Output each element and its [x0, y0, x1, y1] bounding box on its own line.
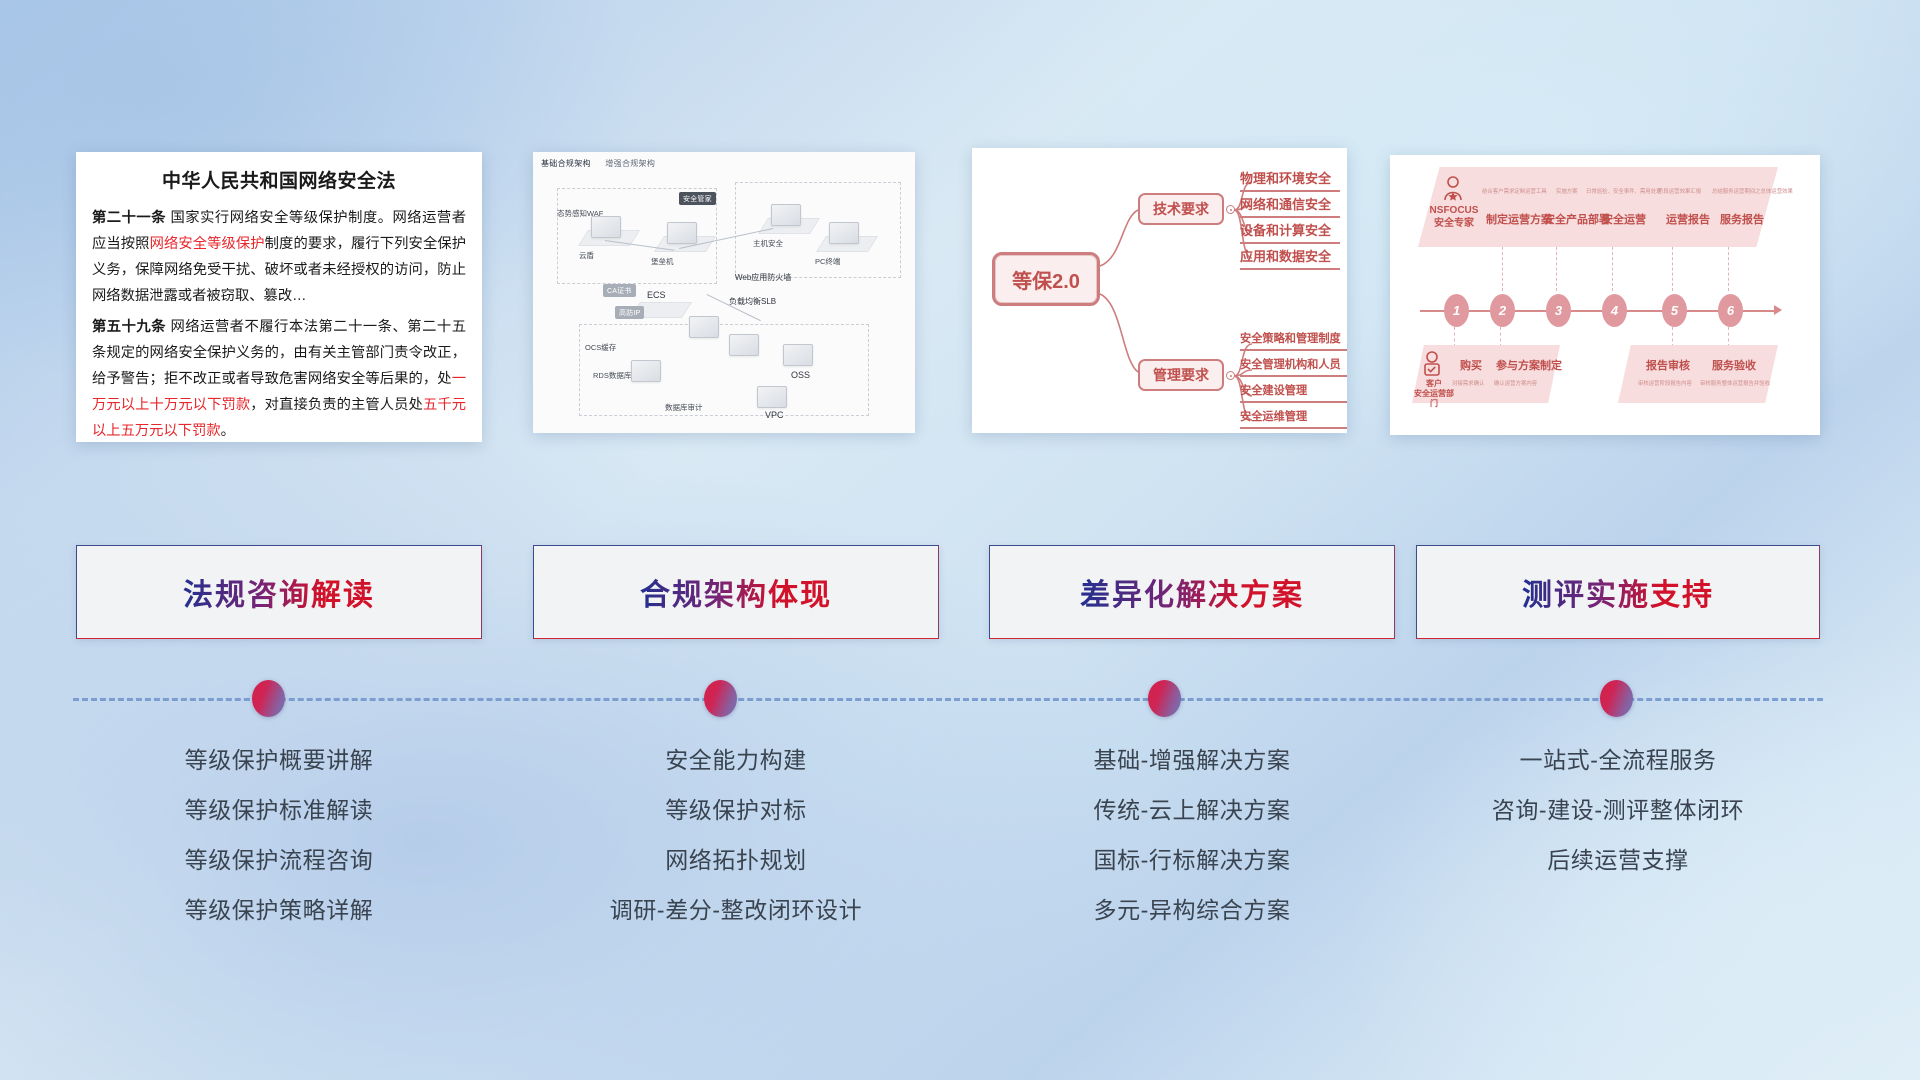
flow-drop-2 [1556, 247, 1557, 291]
title-label-2: 差异化解决方案 [1080, 570, 1304, 614]
flow-axis-arrow-icon [1774, 305, 1782, 315]
architecture-canvas: 安全管家 云盾 态势感知WAF 堡垒机 主机安全 PC终端 Web应用防火墙 负… [539, 174, 909, 427]
title-label-1: 合规架构体现 [640, 570, 832, 614]
flow-step-node-3[interactable]: 3 [1546, 294, 1571, 327]
law-card-title: 中华人民共和国网络安全法 [92, 166, 466, 193]
timeline-dashed-line [73, 698, 1823, 701]
list-item: 咨询-建设-测评整体闭环 [1416, 785, 1820, 835]
flow-canvas: NSFOCUS 安全专家 结合客户需求定制运营工具 制定运营方案 实施方案 安全… [1390, 155, 1820, 435]
card-cybersecurity-law[interactable]: 中华人民共和国网络安全法 第二十一条 国家实行网络安全等级保护制度。网络运营者应… [76, 152, 482, 442]
flow-drop-4 [1672, 247, 1673, 291]
law-article-59-text-b: ，对直接负责的主管人员处 [250, 397, 423, 413]
architecture-tab-enhanced[interactable]: 增强合规架构 [605, 159, 655, 168]
arch-label-ecs: ECS [647, 290, 666, 300]
flow-bottom-main-4[interactable]: 服务验收 [1712, 357, 1756, 373]
flow-step-node-2[interactable]: 2 [1490, 294, 1515, 327]
flow-drop-3 [1612, 247, 1613, 291]
mindmap-branch-management[interactable]: 管理要求 [1138, 359, 1224, 391]
flow-step-node-6[interactable]: 6 [1718, 294, 1743, 327]
flow-step-node-5[interactable]: 5 [1662, 294, 1687, 327]
title-label-0: 法规咨询解读 [183, 570, 375, 614]
mindmap-leaf-ops[interactable]: 安全运维管理 [1240, 408, 1347, 429]
flow-top-main-1[interactable]: 制定运营方案 [1486, 211, 1552, 227]
flow-drop-5 [1728, 247, 1729, 291]
flow-top-sub-2: 实施方案 [1556, 187, 1578, 195]
list-item: 等级保护概要讲解 [76, 735, 482, 785]
expert-persona-label: NSFOCUS 安全专家 [1426, 205, 1482, 230]
list-column-assessment: 一站式-全流程服务 咨询-建设-测评整体闭环 后续运营支撑 [1416, 735, 1820, 885]
customer-person-icon [1420, 351, 1444, 377]
flow-bottom-band-right [1618, 345, 1778, 403]
mindmap-leaf-device[interactable]: 设备和计算安全 [1240, 220, 1340, 244]
customer-persona-label: 客户 安全运营部门 [1412, 379, 1456, 409]
list-item: 后续运营支撑 [1416, 835, 1820, 885]
arch-tag-anti-ddos: 高防IP [615, 306, 644, 319]
mindmap-dot-management [1226, 371, 1235, 380]
flow-drop-b4 [1728, 327, 1729, 347]
flow-top-main-5[interactable]: 服务报告 [1720, 211, 1764, 227]
flow-drop-b2 [1500, 327, 1501, 347]
mindmap-root-node[interactable]: 等保2.0 [992, 252, 1100, 306]
flow-step-node-4[interactable]: 4 [1602, 294, 1627, 327]
law-article-59-number: 第五十九条 [92, 319, 166, 335]
mindmap-dot-technical [1226, 205, 1235, 214]
timeline-dot-4[interactable] [1600, 680, 1633, 717]
arch-node-pc [829, 222, 859, 244]
title-label-3: 测评实施支持 [1522, 570, 1714, 614]
flow-top-main-4[interactable]: 运营报告 [1666, 211, 1710, 227]
arch-label-ocs: OCS缓存 [585, 342, 616, 353]
list-column-solution: 基础-增强解决方案 传统-云上解决方案 国标-行标解决方案 多元-异构综合方案 [989, 735, 1395, 935]
law-article-21-number: 第二十一条 [92, 210, 166, 226]
mindmap-branch-technical[interactable]: 技术要求 [1138, 193, 1224, 225]
flow-step-node-1[interactable]: 1 [1444, 294, 1469, 327]
arch-node-vpc [757, 386, 787, 408]
list-item: 一站式-全流程服务 [1416, 735, 1820, 785]
arch-node-rds [631, 360, 661, 382]
expert-persona-line2: 安全专家 [1426, 218, 1482, 231]
list-item: 等级保护流程咨询 [76, 835, 482, 885]
list-column-regulation: 等级保护概要讲解 等级保护标准解读 等级保护流程咨询 等级保护策略详解 [76, 735, 482, 935]
title-box-regulation-consulting[interactable]: 法规咨询解读 [76, 545, 482, 639]
flow-top-main-3[interactable]: 安全运营 [1602, 211, 1646, 227]
flow-bottom-main-3[interactable]: 报告审核 [1646, 357, 1690, 373]
list-item: 国标-行标解决方案 [989, 835, 1395, 885]
flow-top-sub-1: 结合客户需求定制运营工具 [1482, 187, 1547, 195]
law-article-59: 第五十九条 网络运营者不履行本法第二十一条、第二十五条规定的网络安全保护义务的，… [92, 314, 466, 442]
expert-persona-line1: NSFOCUS [1426, 205, 1482, 218]
card-service-flow[interactable]: NSFOCUS 安全专家 结合客户需求定制运营工具 制定运营方案 实施方案 安全… [1390, 155, 1820, 435]
flow-top-sub-4: 阶段运营效果汇报 [1658, 187, 1701, 195]
arch-label-waf: Web应用防火墙 [735, 272, 791, 283]
flow-bottom-sub-3: 审核运营阶段报告内容 [1638, 379, 1692, 387]
timeline-dot-1[interactable] [252, 680, 285, 717]
arch-label-host: 主机安全 [753, 238, 783, 249]
arch-label-pc: PC终端 [815, 256, 840, 267]
card-mindmap-dengbao[interactable]: 等保2.0 技术要求 管理要求 物理和环境安全 网络和通信安全 设备和计算安全 … [972, 148, 1347, 433]
law-article-21-highlight: 网络安全等级保护 [150, 236, 265, 252]
arch-label-db-audit: 数据库审计 [665, 402, 703, 413]
flow-drop-1 [1502, 247, 1503, 291]
flow-bottom-sub-2: 确认运营方案内容 [1494, 379, 1537, 387]
mindmap-canvas: 等保2.0 技术要求 管理要求 物理和环境安全 网络和通信安全 设备和计算安全 … [972, 148, 1347, 433]
title-box-differentiated-solution[interactable]: 差异化解决方案 [989, 545, 1395, 639]
architecture-tab-bar: 基础合规架构 增强合规架构 [541, 158, 667, 169]
arch-label-slb: 负载均衡SLB [729, 296, 776, 307]
expert-person-icon [1440, 175, 1466, 201]
list-item: 调研-差分-整改闭环设计 [533, 885, 939, 935]
arch-node-ecs [689, 316, 719, 338]
flow-top-main-2[interactable]: 安全产品部署 [1544, 211, 1610, 227]
service-title-row: 法规咨询解读 合规架构体现 差异化解决方案 测评实施支持 [0, 545, 1920, 645]
mindmap-leaf-application[interactable]: 应用和数据安全 [1240, 246, 1340, 270]
arch-label-oss: OSS [791, 370, 810, 380]
arch-tag-ca-cert: CA证书 [603, 284, 636, 297]
mindmap-leaf-physical[interactable]: 物理和环境安全 [1240, 168, 1340, 192]
timeline-connector [0, 680, 1920, 720]
list-item: 多元-异构综合方案 [989, 885, 1395, 935]
service-detail-lists: 等级保护概要讲解 等级保护标准解读 等级保护流程咨询 等级保护策略详解 安全能力… [0, 735, 1920, 955]
arch-node-bastion [667, 222, 697, 244]
list-item: 网络拓扑规划 [533, 835, 939, 885]
reference-cards-row: 中华人民共和国网络安全法 第二十一条 国家实行网络安全等级保护制度。网络运营者应… [0, 0, 1920, 450]
flow-bottom-main-1[interactable]: 购买 [1460, 357, 1482, 373]
architecture-tab-basic[interactable]: 基础合规架构 [541, 159, 591, 168]
flow-drop-b1 [1454, 327, 1455, 347]
timeline-dot-2[interactable] [704, 680, 737, 717]
title-box-compliance-architecture[interactable]: 合规架构体现 [533, 545, 939, 639]
title-box-assessment-support[interactable]: 测评实施支持 [1416, 545, 1820, 639]
flow-drop-b3 [1672, 327, 1673, 347]
list-item: 基础-增强解决方案 [989, 735, 1395, 785]
mindmap-leaf-policy[interactable]: 安全策略和管理制度 [1240, 330, 1347, 351]
arch-label-rds: RDS数据库 [593, 370, 631, 381]
customer-persona-line1: 客户 [1412, 379, 1456, 389]
customer-persona-line2: 安全运营部门 [1412, 389, 1456, 409]
arch-label-yundun: 云盾 [579, 250, 594, 261]
arch-node-yundun [591, 216, 621, 238]
arch-label-situation: 态势感知WAF [557, 208, 603, 219]
flow-top-sub-3: 日常巡检、安全事件、需用处理 [1586, 187, 1661, 195]
arch-tag-security-manager: 安全管家 [679, 192, 716, 205]
arch-node-ecs2 [729, 334, 759, 356]
list-item: 安全能力构建 [533, 735, 939, 785]
card-compliance-architecture[interactable]: 基础合规架构 增强合规架构 安全管家 云盾 态势感知WAF 堡垒机 主机安全 P… [533, 152, 915, 433]
flow-bottom-main-2[interactable]: 参与方案制定 [1496, 357, 1562, 373]
list-item: 等级保护策略详解 [76, 885, 482, 935]
arch-node-host [771, 204, 801, 226]
arch-node-oss [783, 344, 813, 366]
arch-label-vpc: VPC [765, 410, 784, 420]
list-item: 等级保护标准解读 [76, 785, 482, 835]
mindmap-leaf-construction[interactable]: 安全建设管理 [1240, 382, 1347, 403]
law-article-21: 第二十一条 国家实行网络安全等级保护制度。网络运营者应当按照网络安全等级保护制度… [92, 205, 466, 309]
flow-top-sub-5: 总结服务运营期间之总体运营效果 [1712, 187, 1793, 195]
arch-label-bastion: 堡垒机 [651, 256, 674, 267]
list-item: 等级保护对标 [533, 785, 939, 835]
flow-bottom-sub-4: 审核服务整体运营报告并验收 [1700, 379, 1770, 387]
flow-bottom-sub-1: 对接需求确认 [1452, 379, 1484, 387]
mindmap-leaf-org[interactable]: 安全管理机构和人员 [1240, 356, 1347, 377]
timeline-dot-3[interactable] [1148, 680, 1181, 717]
mindmap-leaf-network[interactable]: 网络和通信安全 [1240, 194, 1340, 218]
list-column-architecture: 安全能力构建 等级保护对标 网络拓扑规划 调研-差分-整改闭环设计 [533, 735, 939, 935]
list-item: 传统-云上解决方案 [989, 785, 1395, 835]
law-article-59-text-c: 。 [221, 423, 235, 439]
